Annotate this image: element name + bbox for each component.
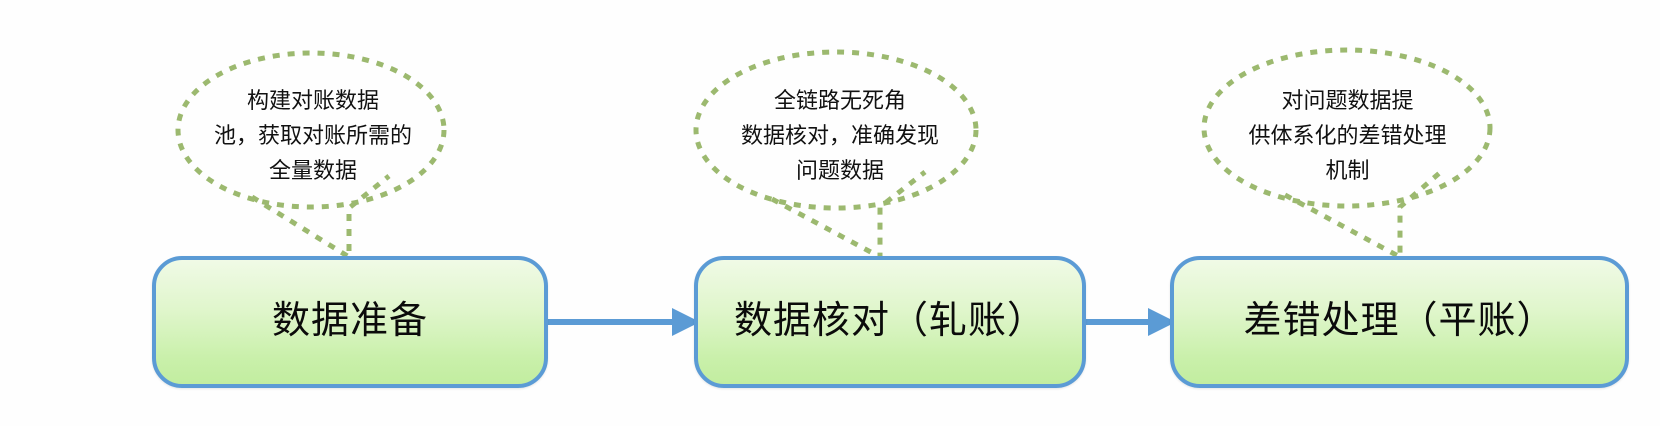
callout-ellipse-1: [178, 53, 444, 207]
callout-ellipse-2: [696, 52, 976, 208]
process-label-data-verification: 数据核对（轧账）: [734, 301, 1046, 343]
diagram-canvas: 构建对账数据 池，获取对账所需的 全量数据 全链路无死角 数据核对，准确发现 问…: [0, 0, 1660, 426]
process-label-data-preparation: 数据准备: [272, 301, 428, 343]
process-box-error-handling[interactable]: 差错处理（平账）: [1170, 256, 1629, 388]
callout-bubble-2: [696, 52, 976, 257]
callout-text-data-preparation: 构建对账数据 池，获取对账所需的 全量数据: [178, 84, 448, 188]
callout-bubble-1: [178, 53, 444, 257]
connector-arrow-1: [548, 308, 700, 336]
process-box-data-verification[interactable]: 数据核对（轧账）: [694, 256, 1086, 388]
process-label-error-handling: 差错处理（平账）: [1243, 301, 1555, 343]
callout-bubble-3: [1204, 50, 1490, 257]
callout-text-data-verification: 全链路无死角 数据核对，准确发现 问题数据: [700, 84, 980, 188]
callout-ellipse-3: [1204, 50, 1490, 206]
callout-tail-3: [1285, 170, 1443, 257]
callout-text-error-handling: 对问题数据提 供体系化的差错处理 机制: [1205, 84, 1490, 188]
callout-tail-2: [772, 172, 925, 257]
callout-tail-1: [252, 176, 389, 257]
process-box-data-preparation[interactable]: 数据准备: [152, 256, 548, 388]
connector-arrow-2: [1086, 308, 1176, 336]
